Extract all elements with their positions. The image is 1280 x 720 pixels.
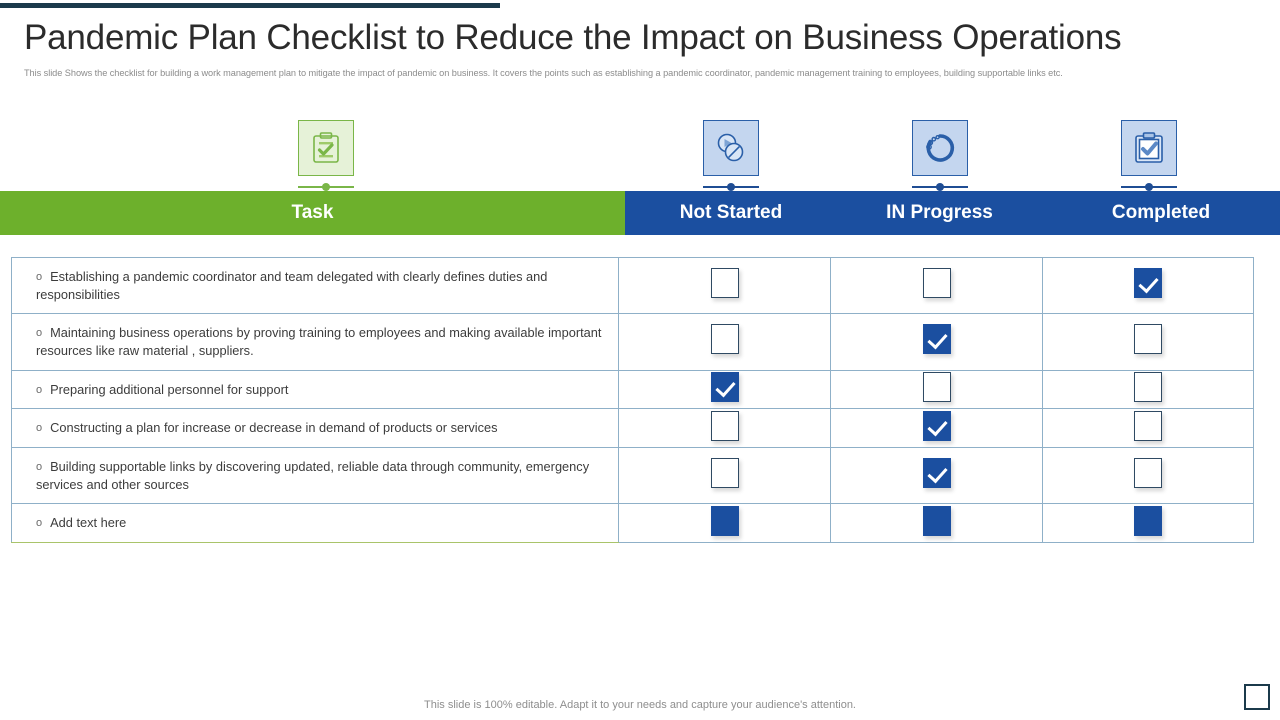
checkbox-filled-icon[interactable] bbox=[923, 506, 951, 536]
page-title: Pandemic Plan Checklist to Reduce the Im… bbox=[24, 18, 1264, 58]
checkbox-checked-icon[interactable] bbox=[923, 324, 951, 354]
status-cell-completed[interactable] bbox=[1043, 370, 1254, 409]
status-cell-in-progress[interactable] bbox=[831, 447, 1043, 503]
task-label: Preparing additional personnel for suppo… bbox=[50, 382, 288, 397]
checklist-table: oEstablishing a pandemic coordinator and… bbox=[11, 257, 1254, 543]
status-cell-in-progress[interactable] bbox=[831, 370, 1043, 409]
status-cell-in-progress[interactable] bbox=[831, 504, 1043, 543]
checkbox-checked-icon[interactable] bbox=[1134, 268, 1162, 298]
table-row: oBuilding supportable links by discoveri… bbox=[12, 447, 1254, 503]
status-cell-completed[interactable] bbox=[1043, 409, 1254, 448]
table-row: oAdd text here bbox=[12, 504, 1254, 543]
bullet-glyph: o bbox=[36, 422, 42, 434]
status-cell-not-started[interactable] bbox=[619, 370, 831, 409]
table-row: oEstablishing a pandemic coordinator and… bbox=[12, 258, 1254, 314]
status-cell-not-started[interactable] bbox=[619, 258, 831, 314]
bullet-glyph: o bbox=[36, 461, 42, 473]
task-cell: oEstablishing a pandemic coordinator and… bbox=[12, 258, 619, 314]
status-cell-completed[interactable] bbox=[1043, 258, 1254, 314]
task-label: Maintaining business operations by provi… bbox=[36, 325, 601, 358]
task-label: Add text here bbox=[50, 515, 126, 530]
icon-block-in-progress bbox=[909, 120, 971, 192]
task-label: Building supportable links by discoverin… bbox=[36, 459, 589, 492]
status-cell-completed[interactable] bbox=[1043, 447, 1254, 503]
status-cell-in-progress[interactable] bbox=[831, 314, 1043, 370]
status-cell-not-started[interactable] bbox=[619, 447, 831, 503]
task-cell: oPreparing additional personnel for supp… bbox=[12, 370, 619, 409]
bullet-glyph: o bbox=[36, 384, 42, 396]
task-cell: oMaintaining business operations by prov… bbox=[12, 314, 619, 370]
pending-circles-icon bbox=[703, 120, 759, 176]
checkbox-empty-icon[interactable] bbox=[923, 268, 951, 298]
task-label: Establishing a pandemic coordinator and … bbox=[36, 269, 547, 302]
status-cell-not-started[interactable] bbox=[619, 409, 831, 448]
progress-spinner-icon bbox=[912, 120, 968, 176]
top-accent-bar bbox=[0, 3, 500, 8]
status-cell-completed[interactable] bbox=[1043, 504, 1254, 543]
status-cell-completed[interactable] bbox=[1043, 314, 1254, 370]
column-header-completed: Completed bbox=[1042, 191, 1280, 235]
checkbox-checked-icon[interactable] bbox=[711, 372, 739, 402]
column-header-not-started: Not Started bbox=[625, 191, 837, 235]
task-label: Constructing a plan for increase or decr… bbox=[50, 420, 497, 435]
checkbox-checked-icon[interactable] bbox=[923, 458, 951, 488]
checkbox-empty-icon[interactable] bbox=[1134, 458, 1162, 488]
column-header-in-progress: IN Progress bbox=[837, 191, 1042, 235]
checkbox-empty-icon[interactable] bbox=[923, 372, 951, 402]
bullet-glyph: o bbox=[36, 517, 42, 529]
table-row: oMaintaining business operations by prov… bbox=[12, 314, 1254, 370]
table-row: oPreparing additional personnel for supp… bbox=[12, 370, 1254, 409]
checkbox-empty-icon[interactable] bbox=[711, 324, 739, 354]
checkbox-empty-icon[interactable] bbox=[711, 411, 739, 441]
checkbox-empty-icon[interactable] bbox=[1134, 372, 1162, 402]
status-cell-not-started[interactable] bbox=[619, 314, 831, 370]
status-cell-in-progress[interactable] bbox=[831, 409, 1043, 448]
table-row: oConstructing a plan for increase or dec… bbox=[12, 409, 1254, 448]
bullet-glyph: o bbox=[36, 327, 42, 339]
clipboard-check-icon bbox=[298, 120, 354, 176]
checkbox-empty-icon[interactable] bbox=[1134, 324, 1162, 354]
checkbox-checked-icon[interactable] bbox=[923, 411, 951, 441]
status-cell-in-progress[interactable] bbox=[831, 258, 1043, 314]
page-subtitle: This slide Shows the checklist for build… bbox=[24, 68, 1260, 78]
bullet-glyph: o bbox=[36, 271, 42, 283]
checkbox-filled-icon[interactable] bbox=[1134, 506, 1162, 536]
task-cell: oConstructing a plan for increase or dec… bbox=[12, 409, 619, 448]
icon-block-completed bbox=[1118, 120, 1180, 192]
task-cell: oAdd text here bbox=[12, 504, 619, 543]
checkbox-empty-icon[interactable] bbox=[1134, 411, 1162, 441]
icon-block-task bbox=[295, 120, 357, 192]
column-header-task: Task bbox=[0, 191, 625, 235]
corner-placeholder-box bbox=[1244, 684, 1270, 710]
icon-block-not-started bbox=[700, 120, 762, 192]
clipboard-check-icon bbox=[1121, 120, 1177, 176]
task-cell: oBuilding supportable links by discoveri… bbox=[12, 447, 619, 503]
footer-note: This slide is 100% editable. Adapt it to… bbox=[0, 699, 1280, 711]
checkbox-empty-icon[interactable] bbox=[711, 268, 739, 298]
status-cell-not-started[interactable] bbox=[619, 504, 831, 543]
checkbox-empty-icon[interactable] bbox=[711, 458, 739, 488]
checkbox-filled-icon[interactable] bbox=[711, 506, 739, 536]
